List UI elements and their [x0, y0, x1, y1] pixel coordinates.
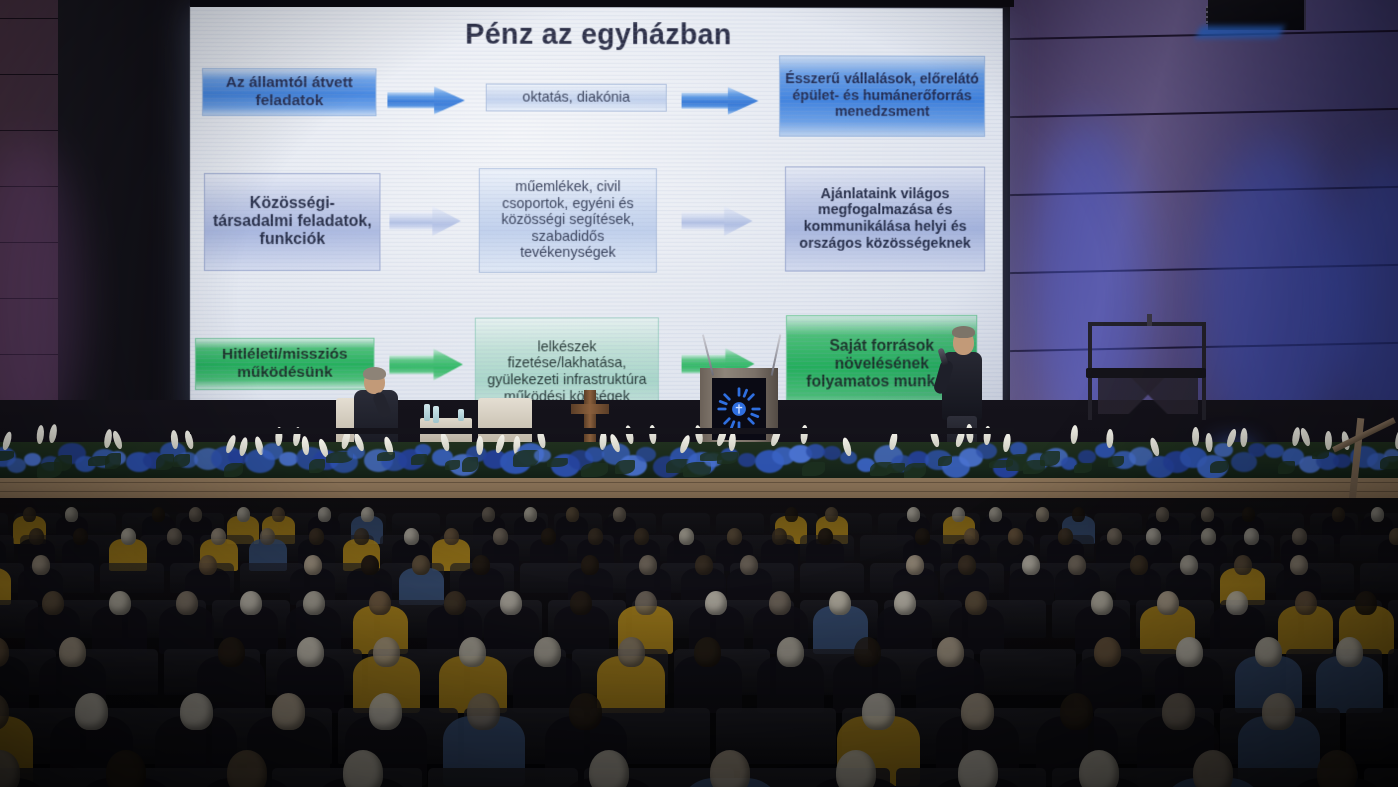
slide-box-monuments: műemlékek, civil csoportok, egyéni és kö… [479, 168, 657, 273]
hydrangea-bloom [1265, 444, 1284, 459]
hydrangea-bloom [636, 447, 656, 462]
foliage-leaf [547, 458, 568, 467]
calla-lily [48, 424, 58, 444]
wall-slat-line [1010, 186, 1398, 196]
wall-slat-line [1010, 264, 1398, 274]
conference-hall-photo: Pénz az egyházban Az államtól átvett fel… [0, 0, 1398, 787]
foliage-leaf [1040, 451, 1060, 467]
foliage-leaf [717, 452, 738, 464]
water-bottle-2 [433, 406, 439, 423]
stage-grain-line [0, 491, 1398, 492]
standing-speaker-hair [952, 326, 975, 338]
foliage-leaf [173, 454, 190, 467]
stage-grain-line [0, 482, 1398, 483]
hydrangea-bloom [976, 443, 997, 459]
water-bottle-1 [424, 404, 430, 421]
audience-seating [0, 498, 1398, 787]
foliage-leaf [462, 457, 478, 471]
foliage-leaf [224, 463, 243, 477]
calla-lily [1394, 429, 1398, 449]
foliage-leaf [377, 452, 395, 461]
slide-box-community-tasks: Közösségi-társadalmi feladatok, funkciók [204, 173, 380, 271]
foliage-leaf [1074, 463, 1092, 473]
arrow-right-blue-2 [682, 87, 759, 115]
arrow-right-blue-1 [387, 86, 464, 114]
slide-title: Pénz az egyházban [190, 18, 1003, 53]
ceiling-speaker [1208, 0, 1306, 30]
hydrangea-bloom [1248, 443, 1266, 457]
foliage-leaf [105, 453, 121, 470]
foliage-leaf [581, 463, 608, 477]
foliage-leaf [615, 460, 635, 474]
calla-lily [1205, 433, 1213, 452]
foliage-leaf [1380, 456, 1398, 469]
screen-top-edge [190, 0, 1014, 7]
foliage-leaf [411, 454, 427, 464]
slide-box-education: oktatás, diakónia [486, 84, 667, 112]
foliage-leaf [802, 462, 825, 476]
slide-box-faith-mission: Hitléleti/missziós működésünk [195, 338, 374, 390]
calla-lily [1325, 431, 1332, 450]
foliage-leaf [1210, 461, 1228, 473]
arrow-right-lavender-1 [389, 206, 461, 236]
projection-screen: Pénz az egyházban Az államtól átvett fel… [190, 6, 1003, 430]
lighting-rig [1088, 320, 1206, 420]
foliage-leaf [887, 463, 905, 473]
wall-slat-line [1010, 108, 1398, 118]
water-glass [458, 409, 464, 421]
arrow-right-lavender-2 [682, 206, 753, 236]
slide-box-state-tasks: Az államtól átvett feladatok [202, 68, 376, 116]
audience-shadow-overlay [0, 498, 1398, 787]
slide-box-clear-offers: Ajánlataink világos megfogalmazása és ko… [785, 166, 985, 271]
foliage-leaf [445, 460, 460, 469]
hydrangea-bloom [1078, 450, 1096, 464]
screen-bottom-edge [190, 428, 1014, 434]
hydrangea-bloom [823, 446, 841, 460]
foliage-leaf [156, 454, 174, 470]
slide-box-reasonable-commitments: Ésszerű vállalások, előrelátó épület- és… [779, 55, 985, 137]
seated-speaker-hair [363, 367, 386, 380]
